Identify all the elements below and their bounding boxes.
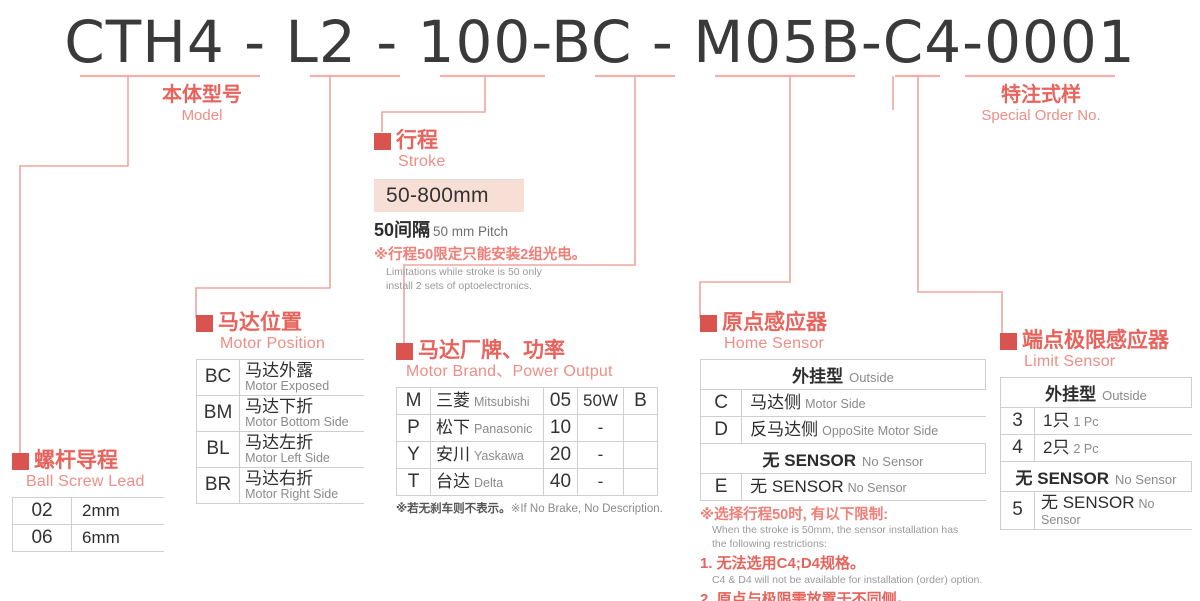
cell-code: 02 [13, 497, 72, 524]
table-band-row: 无 SENSORNo Sensor [1001, 461, 1192, 491]
cell-desc: 无 SENSORNo Sensor [742, 473, 986, 500]
motor-brand-title-en: Motor Brand、Power Output [396, 362, 664, 383]
cell-desc: 马达下折 Motor Bottom Side [240, 395, 364, 431]
motor-brand-section: 马达厂牌、功率 Motor Brand、Power Output M 三菱Mit… [396, 340, 664, 516]
motor-brand-note-cn: ※若无刹车则不表示。 [396, 503, 511, 515]
cell-code: 3 [1001, 407, 1035, 434]
table-row: P 松下Panasonic 10 - [397, 414, 658, 441]
cell-desc: 无 SENSORNo Sensor [1035, 491, 1192, 529]
model-code-diagram: CTH4 - L2 - 100-BC - M05B-C4-0001 [0, 0, 1200, 601]
cell-brake-code [624, 414, 658, 441]
stroke-title-en: Stroke [374, 152, 594, 173]
motor-brand-note-en: ※If No Brake, No Description. [511, 503, 663, 515]
stroke-note-en-1: Limitations while stroke is 50 only [374, 266, 594, 280]
table-row: E 无 SENSORNo Sensor [701, 473, 986, 500]
cell-brand-name: 松下Panasonic [431, 414, 544, 441]
square-bullet-icon [12, 453, 29, 470]
cell-code: BL [197, 431, 240, 467]
square-bullet-icon [700, 315, 717, 332]
band-outside: 外挂型Outside [701, 359, 986, 389]
cell-code: BC [197, 359, 240, 395]
cell-brand-code: T [397, 468, 431, 495]
cell-code: BM [197, 395, 240, 431]
special-order-label-en: Special Order No. [948, 106, 1134, 126]
table-row: BC 马达外露 Motor Exposed [197, 359, 365, 395]
cell-code: E [701, 473, 742, 500]
home-sensor-title-cn: 原点感应器 [700, 312, 992, 334]
cell-code: 06 [13, 524, 72, 551]
cell-brand-code: M [397, 387, 431, 414]
home-sensor-note-item1-en: C4 & D4 will not be available for instal… [700, 574, 992, 588]
ball-screw-lead-title-en: Ball Screw Lead [12, 472, 172, 493]
cell-brake-code [624, 441, 658, 468]
table-row: M 三菱Mitsubishi 05 50W B [397, 387, 658, 414]
home-sensor-title-en: Home Sensor [700, 334, 992, 355]
motor-position-title-cn: 马达位置 [196, 312, 368, 334]
home-sensor-note-item1-cn: 1. 无法选用C4;D4规格。 [700, 554, 992, 574]
motor-position-section: 马达位置 Motor Position BC 马达外露 Motor Expose… [196, 312, 368, 504]
table-row: 06 6mm [13, 524, 165, 551]
stroke-pitch-cn: 50间隔 [374, 220, 430, 240]
table-row: T 台达Delta 40 - [397, 468, 658, 495]
cell-desc: 1只1 Pc [1035, 407, 1192, 434]
cell-power: - [578, 441, 624, 468]
special-order-label-cn: 特注式样 [948, 84, 1134, 106]
cell-brand-name: 三菱Mitsubishi [431, 387, 544, 414]
table-row: C 马达侧Motor Side [701, 389, 986, 416]
ball-screw-lead-section: 螺杆导程 Ball Screw Lead 02 2mm 06 6mm [12, 450, 172, 552]
product-code: CTH4 - L2 - 100-BC - M05B-C4-0001 [0, 8, 1200, 76]
table-row: 3 1只1 Pc [1001, 407, 1192, 434]
cell-power-code: 40 [544, 468, 578, 495]
cell-power: - [578, 414, 624, 441]
band-outside: 外挂型Outside [1001, 377, 1192, 407]
table-row: 5 无 SENSORNo Sensor [1001, 491, 1192, 529]
limit-sensor-table: 外挂型Outside 3 1只1 Pc 4 2只2 Pc 无 SENSORNo … [1000, 377, 1192, 530]
stroke-title-cn: 行程 [374, 130, 594, 152]
square-bullet-icon [1000, 333, 1017, 350]
stroke-pitch: 50间隔50 mm Pitch [374, 216, 594, 242]
table-row: D 反马达侧OppoSite Motor Side [701, 416, 986, 443]
limit-sensor-title-cn: 端点极限感应器 [1000, 330, 1196, 352]
table-row: Y 安川Yaskawa 20 - [397, 441, 658, 468]
cell-power-code: 10 [544, 414, 578, 441]
cell-desc: 马达外露 Motor Exposed [240, 359, 364, 395]
stroke-note-cn: ※行程50限定只能安装2组光电。 [374, 246, 594, 264]
stroke-range-value: 50-800mm [374, 179, 524, 212]
square-bullet-icon [196, 315, 213, 332]
stroke-section: 行程 Stroke 50-800mm 50间隔50 mm Pitch ※行程50… [374, 130, 594, 293]
band-no-sensor: 无 SENSORNo Sensor [1001, 461, 1192, 491]
cell-value: 6mm [72, 524, 164, 551]
model-label-cn: 本体型号 [112, 84, 292, 106]
cell-brand-name: 台达Delta [431, 468, 544, 495]
cell-power: 50W [578, 387, 624, 414]
cell-brand-code: Y [397, 441, 431, 468]
stroke-note-en-2: install 2 sets of optoelectronics. [374, 280, 594, 294]
table-row: BM 马达下折 Motor Bottom Side [197, 395, 365, 431]
home-sensor-note-item2-cn: 2. 原点与极限需放置于不同侧。 [700, 590, 992, 601]
table-row: BR 马达右折 Motor Right Side [197, 467, 365, 503]
ball-screw-lead-title-cn: 螺杆导程 [12, 450, 172, 472]
table-row: 02 2mm [13, 497, 165, 524]
cell-desc: 2只2 Pc [1035, 434, 1192, 461]
table-band-row: 外挂型Outside [1001, 377, 1192, 407]
cell-code: 4 [1001, 434, 1035, 461]
cell-brake-code: B [624, 387, 658, 414]
cell-brand-name: 安川Yaskawa [431, 441, 544, 468]
cell-code: BR [197, 467, 240, 503]
motor-brand-title-cn: 马达厂牌、功率 [396, 340, 664, 362]
home-sensor-note-head-en-1: When the stroke is 50mm, the sensor inst… [700, 524, 992, 538]
cell-code: 5 [1001, 491, 1035, 529]
motor-position-title-en: Motor Position [196, 334, 368, 355]
stroke-pitch-en: 50 mm Pitch [433, 224, 508, 239]
table-row: BL 马达左折 Motor Left Side [197, 431, 365, 467]
motor-position-table: BC 马达外露 Motor Exposed BM 马达下折 Motor Bott… [196, 359, 364, 504]
cell-desc: 马达侧Motor Side [742, 389, 986, 416]
square-bullet-icon [374, 133, 391, 150]
motor-brand-table: M 三菱Mitsubishi 05 50W B P 松下Panasonic 10… [396, 387, 658, 496]
limit-sensor-section: 端点极限感应器 Limit Sensor 外挂型Outside 3 1只1 Pc… [1000, 330, 1196, 530]
table-band-row: 外挂型Outside [701, 359, 986, 389]
home-sensor-section: 原点感应器 Home Sensor 外挂型Outside C 马达侧Motor … [700, 312, 992, 601]
cell-brake-code [624, 468, 658, 495]
special-order-label: 特注式样 Special Order No. [948, 84, 1134, 126]
home-sensor-note-head-en-2: the following restrictions: [700, 538, 992, 552]
cell-code: C [701, 389, 742, 416]
model-label-en: Model [112, 106, 292, 126]
band-no-sensor: 无 SENSORNo Sensor [701, 443, 986, 473]
square-bullet-icon [396, 343, 413, 360]
cell-code: D [701, 416, 742, 443]
cell-desc: 反马达侧OppoSite Motor Side [742, 416, 986, 443]
cell-desc: 马达左折 Motor Left Side [240, 431, 364, 467]
cell-value: 2mm [72, 497, 164, 524]
model-label: 本体型号 Model [112, 84, 292, 126]
cell-power-code: 20 [544, 441, 578, 468]
table-band-row: 无 SENSORNo Sensor [701, 443, 986, 473]
home-sensor-table: 外挂型Outside C 马达侧Motor Side D 反马达侧OppoSit… [700, 359, 986, 501]
ball-screw-lead-table: 02 2mm 06 6mm [12, 497, 164, 552]
home-sensor-note-head-cn: ※选择行程50时, 有以下限制: [700, 506, 992, 524]
motor-brand-note: ※若无刹车则不表示。※If No Brake, No Description. [396, 500, 664, 516]
cell-desc: 马达右折 Motor Right Side [240, 467, 364, 503]
cell-brand-code: P [397, 414, 431, 441]
table-row: 4 2只2 Pc [1001, 434, 1192, 461]
limit-sensor-title-en: Limit Sensor [1000, 352, 1196, 373]
cell-power: - [578, 468, 624, 495]
cell-power-code: 05 [544, 387, 578, 414]
